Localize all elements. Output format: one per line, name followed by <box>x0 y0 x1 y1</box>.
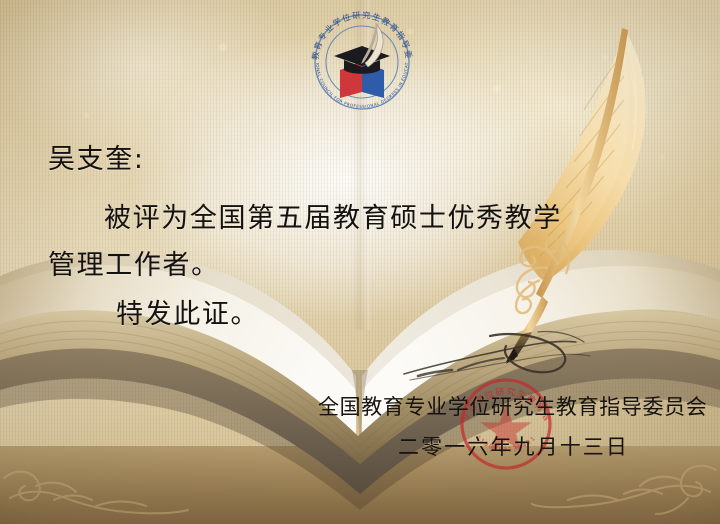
body-line-3: 特发此证。 <box>116 301 259 328</box>
issue-date: 二零一六年九月十三日 <box>398 437 629 458</box>
certificate-text-layer: 吴支奎: 被评为全国第五届教育硕士优秀教学 管理工作者。 特发此证。 全国教育专… <box>0 0 720 524</box>
body-line-2: 管理工作者。 <box>48 252 220 279</box>
certificate-page: 全国教育专业学位研究生教育指导委员会 NATIONAL COUNCIL FOR … <box>0 0 720 524</box>
recipient-name: 吴支奎: <box>48 146 145 173</box>
issuing-authority: 全国教育专业学位研究生教育指导委员会 <box>318 397 707 418</box>
body-line-1: 被评为全国第五届教育硕士优秀教学 <box>104 205 562 232</box>
